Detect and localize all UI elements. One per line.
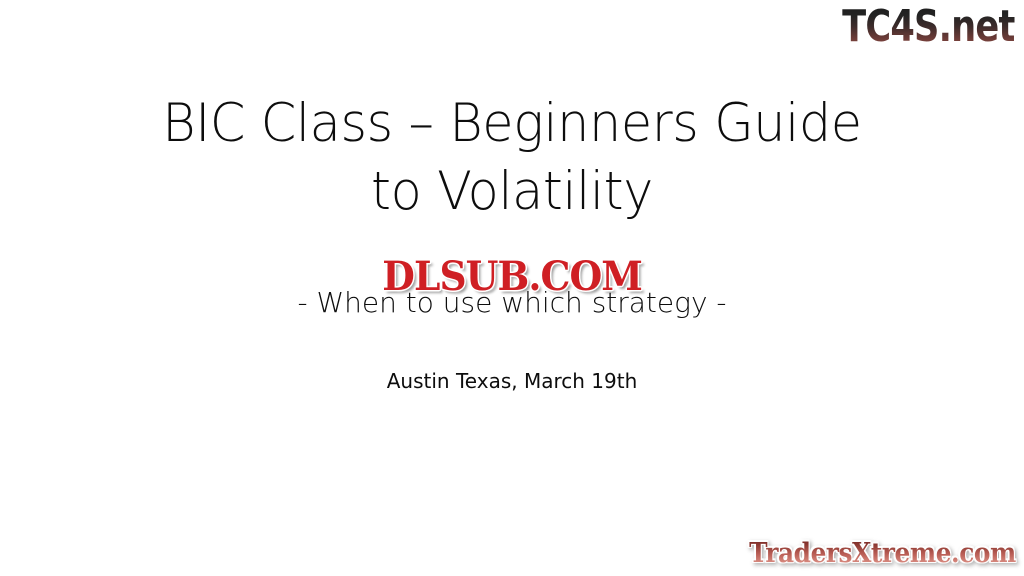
tc4s-brand-logo: TC4S.net <box>843 2 1015 52</box>
page-title-line-1: BIC Class – Beginners Guide <box>20 90 1003 158</box>
page-title: BIC Class – Beginners Guide to Volatilit… <box>20 90 1003 226</box>
presentation-slide: TC4S.net BIC Class – Beginners Guide to … <box>0 0 1024 576</box>
tradersxtreme-watermark-text: TradersXtreme.com <box>749 538 1016 570</box>
event-location-date: Austin Texas, March 19th <box>0 368 1024 394</box>
tradersxtreme-watermark: TradersXtreme.com <box>726 538 1016 570</box>
page-subtitle: - When to use which strategy - <box>0 286 1024 320</box>
page-title-line-2: to Volatility <box>20 158 1003 226</box>
